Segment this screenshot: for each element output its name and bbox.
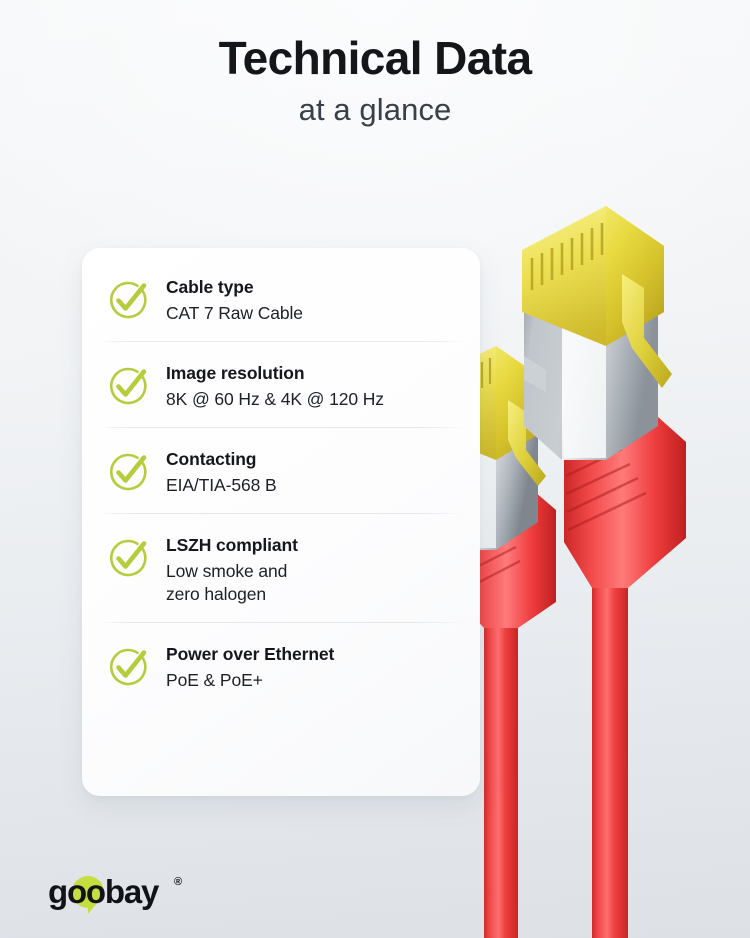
spec-text: Contacting EIA/TIA-568 B (166, 448, 462, 497)
registered-trademark-symbol: ® (174, 876, 182, 888)
page-subtitle: at a glance (0, 93, 750, 127)
spec-label: Contacting (166, 449, 256, 469)
spec-text: Image resolution 8K @ 60 Hz & 4K @ 120 H… (166, 362, 462, 411)
spec-item-lszh-compliant: LSZH compliant Low smoke and zero haloge… (82, 514, 480, 622)
spec-card: Cable type CAT 7 Raw Cable Image resolut… (82, 248, 480, 796)
spec-label: Power over Ethernet (166, 644, 334, 664)
spec-label: Cable type (166, 277, 254, 297)
spec-text: Power over Ethernet PoE & PoE+ (166, 643, 462, 692)
spec-list: Cable type CAT 7 Raw Cable Image resolut… (82, 248, 480, 702)
check-circle-icon (106, 536, 150, 580)
check-circle-icon (106, 645, 150, 689)
spec-value: PoE & PoE+ (166, 669, 462, 692)
header: Technical Data at a glance (0, 34, 750, 127)
spec-value: CAT 7 Raw Cable (166, 302, 462, 325)
check-circle-icon (106, 364, 150, 408)
goobay-logo: goobay ® (48, 872, 228, 914)
rj45-connector-front (522, 206, 686, 938)
spec-value: EIA/TIA-568 B (166, 474, 462, 497)
spec-item-image-resolution: Image resolution 8K @ 60 Hz & 4K @ 120 H… (82, 342, 480, 427)
spec-item-contacting: Contacting EIA/TIA-568 B (82, 428, 480, 513)
logo-wordmark: goobay (48, 872, 158, 912)
spec-item-power-over-ethernet: Power over Ethernet PoE & PoE+ (82, 623, 480, 702)
check-circle-icon (106, 278, 150, 322)
spec-label: LSZH compliant (166, 535, 298, 555)
spec-text: Cable type CAT 7 Raw Cable (166, 276, 462, 325)
page-title: Technical Data (0, 34, 750, 82)
technical-data-infographic: Technical Data at a glance (0, 0, 750, 938)
spec-value: Low smoke and zero halogen (166, 560, 462, 606)
spec-item-cable-type: Cable type CAT 7 Raw Cable (82, 262, 480, 341)
check-circle-icon (106, 450, 150, 494)
spec-text: LSZH compliant Low smoke and zero haloge… (166, 534, 462, 606)
spec-value: 8K @ 60 Hz & 4K @ 120 Hz (166, 388, 462, 411)
spec-label: Image resolution (166, 363, 304, 383)
